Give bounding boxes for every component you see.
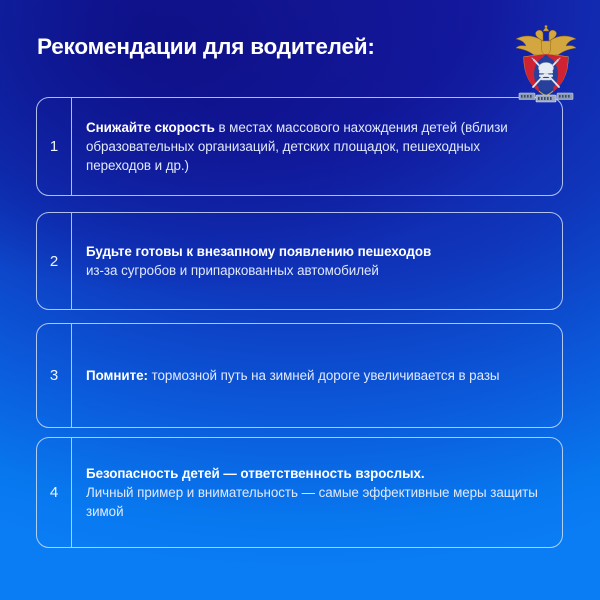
card-number-3: 3 — [37, 324, 72, 427]
card-number-1: 1 — [37, 98, 72, 195]
recommendation-card-2: 2 Будьте готовы к внезапному появлению п… — [36, 212, 563, 310]
recommendation-card-1: 1 Снижайте скорость в местах массового н… — [36, 97, 563, 196]
card-rest-2: из-за сугробов и припаркованных автомоби… — [86, 263, 379, 278]
card-text-3: Помните: тормозной путь на зимней дороге… — [86, 366, 546, 385]
card-body-4: Безопасность детей — ответственность взр… — [72, 438, 562, 547]
mvd-russia-emblem-icon — [510, 24, 582, 106]
card-body-1: Снижайте скорость в местах массового нах… — [72, 98, 562, 195]
card-bold-3: Помните: — [86, 368, 148, 383]
poster-canvas: Рекомендации для водителей: — [0, 0, 600, 600]
card-rest-4: Личный пример и внимательность — самые э… — [86, 485, 538, 519]
card-number-4: 4 — [37, 438, 72, 547]
card-body-3: Помните: тормозной путь на зимней дороге… — [72, 324, 562, 427]
card-text-1: Снижайте скорость в местах массового нах… — [86, 118, 546, 175]
card-bold-2: Будьте готовы к внезапному появлению пеш… — [86, 244, 431, 259]
recommendation-card-4: 4 Безопасность детей — ответственность в… — [36, 437, 563, 548]
card-text-2: Будьте готовы к внезапному появлению пеш… — [86, 242, 546, 280]
poster-header: Рекомендации для водителей: — [0, 0, 600, 96]
card-number-2: 2 — [37, 213, 72, 309]
card-rest-3: тормозной путь на зимней дороге увеличив… — [148, 368, 500, 383]
recommendation-card-3: 3 Помните: тормозной путь на зимней доро… — [36, 323, 563, 428]
page-title: Рекомендации для водителей: — [37, 34, 375, 60]
card-text-4: Безопасность детей — ответственность взр… — [86, 464, 546, 521]
card-body-2: Будьте готовы к внезапному появлению пеш… — [72, 213, 562, 309]
card-bold-4: Безопасность детей — ответственность взр… — [86, 466, 425, 481]
card-bold-1: Снижайте скорость — [86, 120, 215, 135]
